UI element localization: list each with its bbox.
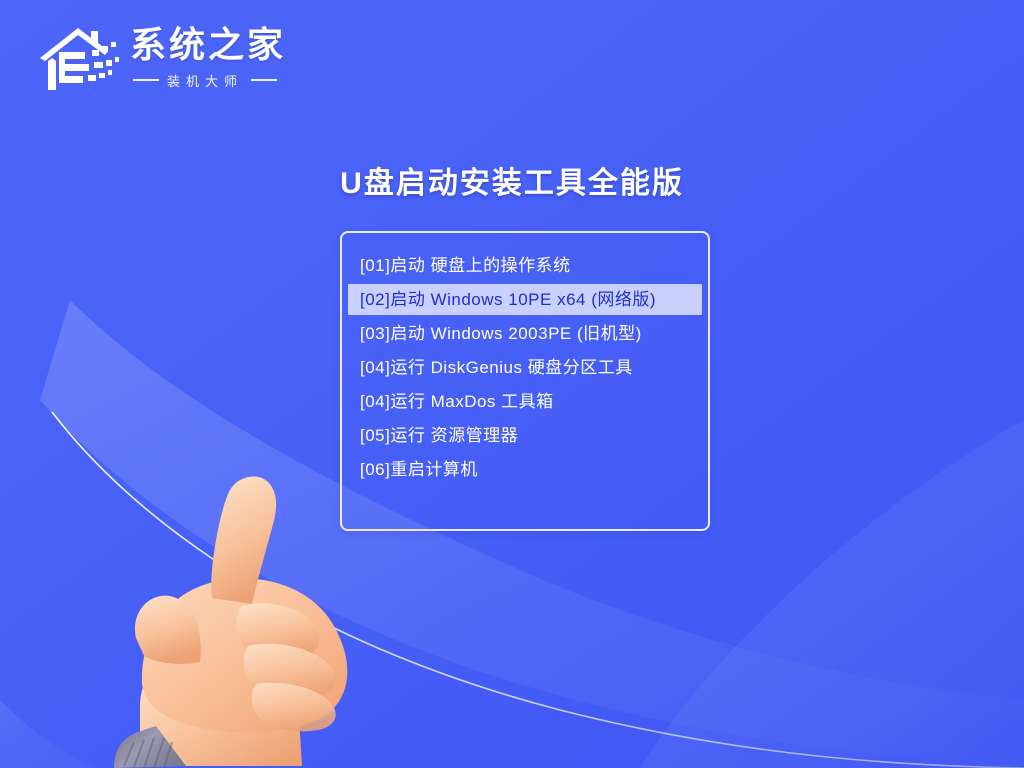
menu-item-label: [04]运行 MaxDos 工具箱 — [360, 392, 554, 411]
brand-tagline: 装机大师 — [167, 71, 243, 90]
tagline-rule-left — [133, 79, 159, 81]
page-title: U盘启动安装工具全能版 — [0, 158, 1024, 202]
menu-item-label: [05]运行 资源管理器 — [360, 426, 518, 445]
menu-item-04-maxdos[interactable]: [04]运行 MaxDos 工具箱 — [352, 386, 698, 417]
menu-item-label: [04]运行 DiskGenius 硬盘分区工具 — [360, 358, 633, 377]
brand-logo: 系统之家 装机大师 — [36, 18, 286, 98]
menu-item-label: [03]启动 Windows 2003PE (旧机型) — [360, 324, 642, 343]
boot-menu-panel: [01]启动 硬盘上的操作系统 [02]启动 Windows 10PE x64 … — [340, 231, 710, 531]
menu-item-label: [02]启动 Windows 10PE x64 (网络版) — [360, 290, 656, 309]
boot-menu-list: [01]启动 硬盘上的操作系统 [02]启动 Windows 10PE x64 … — [342, 250, 708, 485]
menu-item-01[interactable]: [01]启动 硬盘上的操作系统 — [352, 250, 698, 281]
menu-item-03[interactable]: [03]启动 Windows 2003PE (旧机型) — [352, 318, 698, 349]
house-logo-icon — [36, 18, 122, 98]
menu-item-05[interactable]: [05]运行 资源管理器 — [352, 420, 698, 451]
brand-name: 系统之家 — [130, 26, 286, 64]
tagline-rule-right — [251, 79, 277, 81]
menu-item-label: [01]启动 硬盘上的操作系统 — [360, 256, 571, 275]
menu-item-04-diskgenius[interactable]: [04]运行 DiskGenius 硬盘分区工具 — [352, 352, 698, 383]
menu-item-06[interactable]: [06]重启计算机 — [352, 454, 698, 485]
menu-item-02[interactable]: [02]启动 Windows 10PE x64 (网络版) — [348, 284, 702, 315]
menu-item-label: [06]重启计算机 — [360, 460, 478, 479]
